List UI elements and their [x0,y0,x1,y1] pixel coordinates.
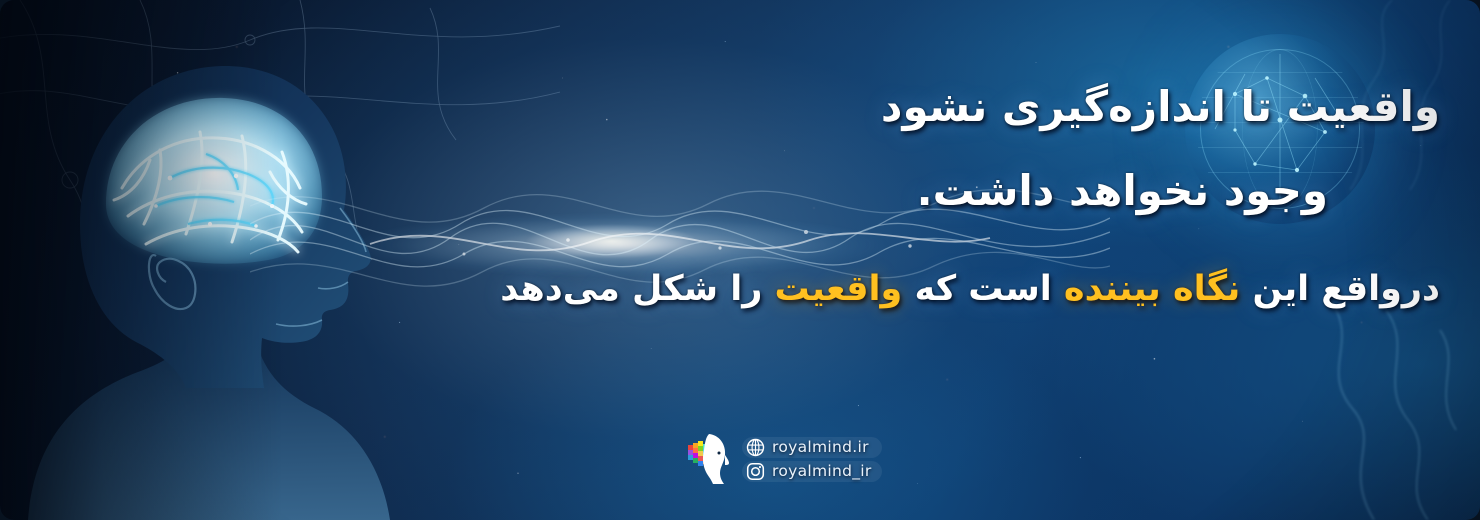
website-handle[interactable]: royalmind.ir [742,437,882,458]
ear-outline [149,255,195,309]
head-with-brain-illustration [10,28,430,520]
quote-line-2: وجود نخواهد داشت. [320,170,1440,212]
quote-line-3-part-2: است که [902,269,1064,309]
energy-wisp-topright [1340,0,1480,190]
neural-wave-lines [250,120,1110,370]
website-handle-text: royalmind.ir [772,438,869,456]
globe-grid [1196,45,1363,212]
quote-line-1: واقعیت تا اندازه‌گیری نشود [320,86,1440,128]
neuron-web-topleft [0,0,560,260]
globe-nodes-icon [1185,34,1375,224]
social-handles[interactable]: royalmind.ir royalmind_ir [742,437,882,482]
globe-icon [746,438,765,457]
quote-line-3-highlight-2: واقعیت [775,269,903,309]
glowing-brain [106,98,322,264]
instagram-handle[interactable]: royalmind_ir [742,461,882,482]
quote-line-3-part-1: درواقع این [1240,269,1440,309]
neural-energy-beam [300,150,1060,340]
royalmind-quote-banner: واقعیت تا اندازه‌گیری نشود وجود نخواهد د… [0,0,1480,520]
brand-footer[interactable]: royalmind.ir royalmind_ir [686,432,882,486]
quote-line-3-part-3: را شکل می‌دهد [500,269,774,309]
instagram-handle-text: royalmind_ir [772,462,872,480]
quote-block: واقعیت تا اندازه‌گیری نشود وجود نخواهد د… [320,86,1440,307]
face-contours [276,208,366,326]
network-globe-icon [1185,34,1375,224]
quote-line-3: درواقع این نگاه بیننده است که واقعیت را … [320,272,1440,307]
shoulders-shape [28,340,390,520]
quote-line-3-highlight-1: نگاه بیننده [1064,269,1240,309]
brain-profile-logo-icon [686,432,732,486]
energy-wisp-right [1290,300,1480,520]
instagram-icon [746,462,765,481]
head-shape [80,66,371,388]
